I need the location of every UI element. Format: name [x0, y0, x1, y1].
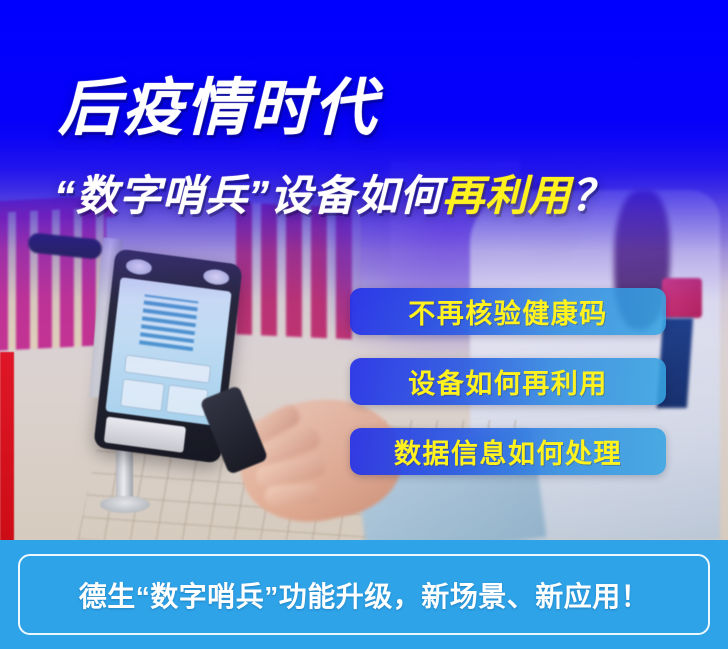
kiosk-screen-button-left — [120, 378, 165, 411]
person-badge — [662, 278, 702, 318]
topic-pill-3[interactable]: 数据信息如何处理 — [350, 428, 666, 475]
subtitle-highlight: 再利用 — [442, 172, 571, 219]
red-edge-stripe — [0, 352, 14, 540]
subtitle-suffix: ？ — [571, 172, 614, 219]
qr-code-icon — [139, 294, 198, 351]
kiosk-camera-lens-left — [125, 258, 152, 276]
bottom-banner: 德生“数字哨兵”功能升级，新场景、新应用！ — [0, 540, 728, 649]
topic-pill-list: 不再核验健康码 设备如何再利用 数据信息如何处理 — [350, 288, 666, 498]
topic-pill-2[interactable]: 设备如何再利用 — [350, 358, 666, 405]
page-title: 后疫情时代 — [58, 78, 378, 140]
topic-pill-1[interactable]: 不再核验健康码 — [350, 288, 666, 335]
corridor-barrier-left — [0, 207, 106, 351]
bottom-banner-text: 德生“数字哨兵”功能升级，新场景、新应用！ — [79, 575, 650, 615]
kiosk-pole-base — [100, 496, 150, 513]
promo-poster: 后疫情时代 “数字哨兵”设备如何再利用？ 不再核验健康码 设备如何再利用 数据信… — [0, 0, 728, 649]
kiosk-camera-lens-right — [202, 268, 229, 286]
subtitle-prefix: “数字哨兵”设备如何 — [54, 172, 442, 219]
topic-pill-1-label: 不再核验健康码 — [408, 292, 608, 331]
kiosk-card-reader — [104, 417, 186, 453]
finger-4 — [264, 483, 321, 507]
bottom-banner-frame: 德生“数字哨兵”功能升级，新场景、新应用！ — [18, 554, 710, 635]
page-subtitle: “数字哨兵”设备如何再利用？ — [54, 172, 614, 219]
topic-pill-3-label: 数据信息如何处理 — [394, 432, 622, 471]
topic-pill-2-label: 设备如何再利用 — [408, 362, 608, 401]
